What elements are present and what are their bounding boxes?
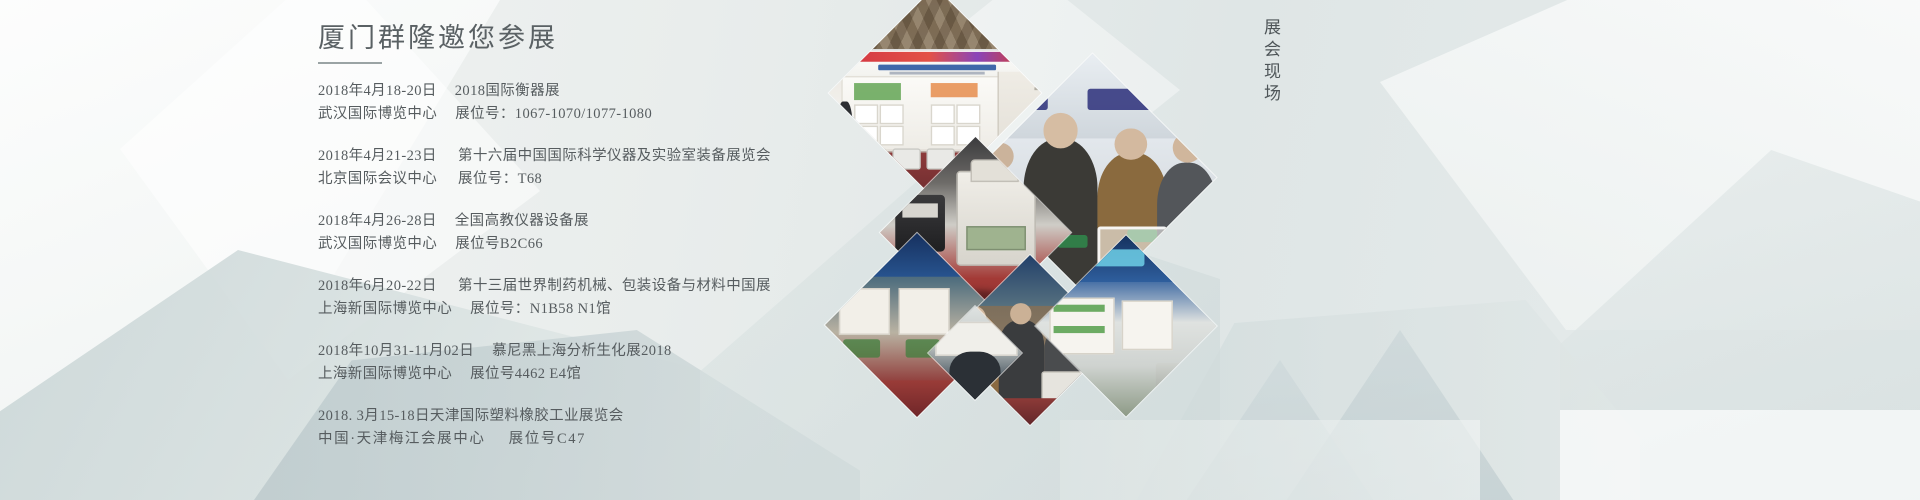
event-5-venue: 上海新国际博览中心 [318,363,452,386]
event-1-booth: 展位号：1067-1070/1077-1080 [437,103,652,126]
event-1-venue: 武汉国际博览中心 [318,103,437,126]
event-6-date: 2018. 3月15-18日天津国际塑料橡胶工业展览会 [318,408,624,424]
title-underline [318,62,382,64]
event-4-booth: 展位号：N1B58 N1馆 [452,298,611,321]
event-5-booth: 展位号4462 E4馆 [452,363,581,386]
bg-shape-10 [1280,330,1520,500]
bg-shape-12 [1560,410,1920,500]
event-6-booth: 展位号C47 [491,431,586,447]
bg-shape-6 [1380,0,1920,330]
event-4-date: 2018年6月20-22日 [318,275,440,298]
event-3-date: 2018年4月26-28日 [318,210,437,233]
event-1-date: 2018年4月18-20日 [318,80,437,103]
event-2-date: 2018年4月21-23日 [318,145,440,168]
event-5-date: 2018年10月31-11月02日 [318,340,474,363]
event-6-venue: 中国·天津梅江会展中心 [318,431,485,447]
exhibition-banner: 厦门群隆邀您参展 2018年4月18-20日 2018国际衡器展 武汉国际博览中… [0,0,1920,500]
event-4-name: 第十三届世界制药机械、包装设备与材料中国展 [440,275,771,298]
event-2-venue: 北京国际会议中心 [318,168,440,191]
event-3-name: 全国高教仪器设备展 [437,210,589,233]
event-2-name: 第十六届中国国际科学仪器及实验室装备展览会 [440,145,771,168]
vertical-caption: 展会现场 [1258,18,1283,106]
event-4-venue: 上海新国际博览中心 [318,298,452,321]
event-2-booth: 展位号：T68 [440,168,542,191]
event-3-venue: 武汉国际博览中心 [318,233,437,256]
event-3-booth: 展位号B2C66 [437,233,543,256]
event-1-name: 2018国际衡器展 [437,80,560,103]
bg-shape-7 [1560,150,1920,500]
photo-collage [830,0,1250,500]
event-5-name: 慕尼黑上海分析生化展2018 [474,340,672,363]
